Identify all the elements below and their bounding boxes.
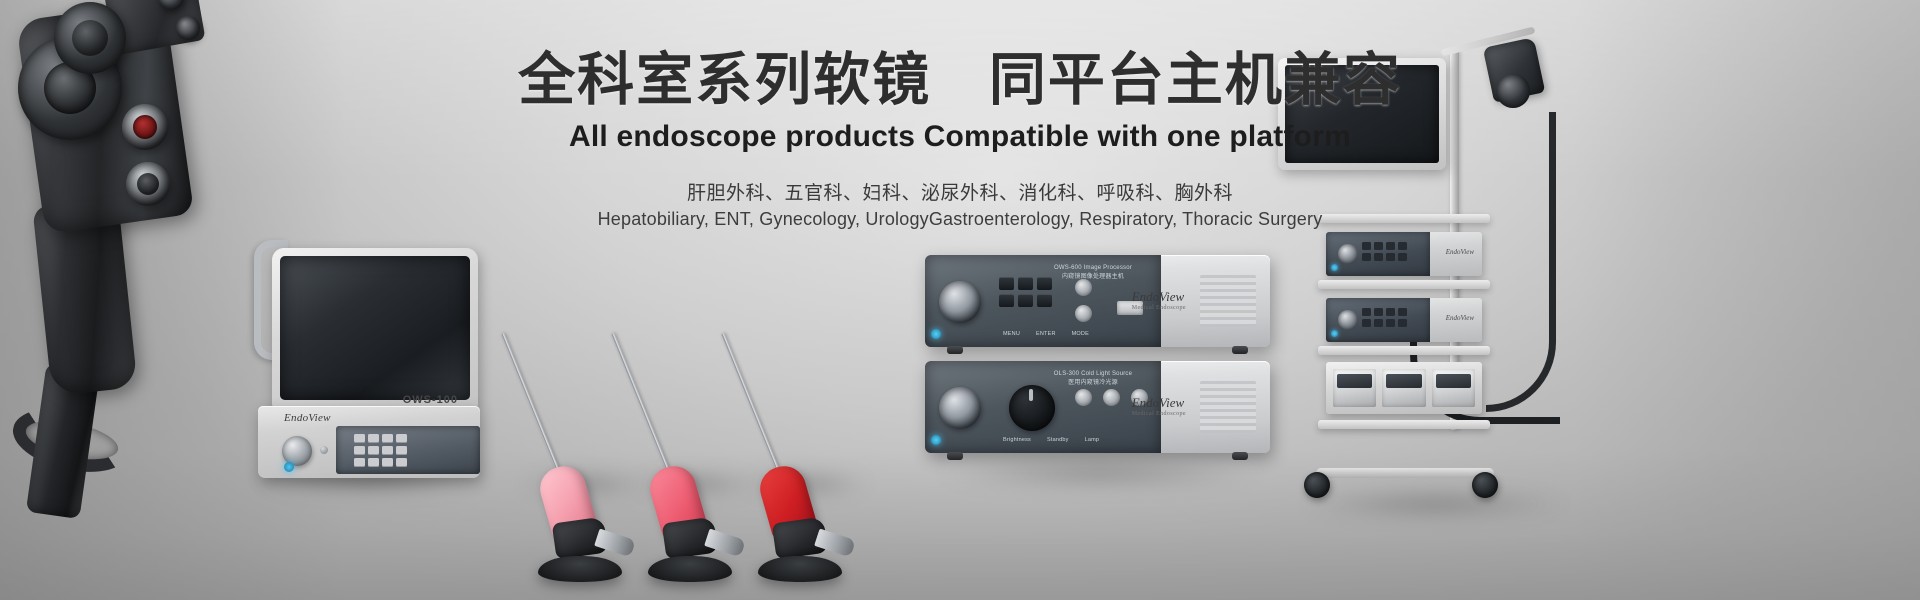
departments-chinese: 肝胆外科、五官科、妇科、泌尿外科、消化科、呼吸科、胸外科 [0,178,1920,205]
trolley-caster-right [1472,472,1498,498]
trolley-device-keypad [1362,242,1407,261]
unit-front-panel: OLS-300 Cold Light Source 医用内窥镜冷光源 Brigh… [925,361,1161,453]
trolley-device-keypad [1362,308,1407,327]
headline: 全科室系列软镜 同平台主机兼容 [0,48,1920,114]
workstation-screen-glass [280,256,470,400]
unit-brand-sub: Medical Endoscope [1132,305,1186,311]
unit-panel-title-en: OLS-300 Cold Light Source [1033,370,1153,379]
unit-brand-name: EndoView [1132,395,1184,410]
product-resectoscope-red [730,347,880,582]
unit-button-icon-2 [1103,389,1120,406]
unit-brand: EndoView Medical Endoscope [1132,289,1186,311]
unit-foot [1232,346,1248,354]
trolley-device-lower: EndoView [1326,298,1482,342]
unit-button-labels: MENU ENTER MODE [1003,331,1089,337]
headline-english: All endoscope products Compatible with o… [0,120,1920,154]
unit-brand-name: EndoView [1132,289,1184,304]
workstation-indicator-icon [320,446,328,454]
unit-button-pad [999,277,1052,307]
unit-power-led-icon [931,329,941,339]
unit-panel-title-en: OWS-600 Image Processor [1033,264,1153,273]
unit-label-lamp: Lamp [1085,437,1100,443]
unit-vent-grille [1200,381,1256,433]
workstation-display [272,248,478,408]
instrument-stand [758,556,842,582]
instrument-stand [648,556,732,582]
trolley-shelf [1318,420,1490,429]
trolley-accessory-2 [1382,369,1425,407]
trolley-device-led-icon [1331,264,1338,271]
control-unit-light-source: OLS-300 Cold Light Source 医用内窥镜冷光源 Brigh… [925,361,1270,453]
unit-foot [947,346,963,354]
unit-label-enter: ENTER [1036,331,1056,337]
trolley-device-upper: EndoView [1326,232,1482,276]
trolley-shelf [1318,280,1490,289]
trolley-shelf [1318,346,1490,355]
marketing-banner: OWS-100 EndoView [0,0,1920,600]
unit-foot [1232,452,1248,460]
unit-light-guide-connector [939,387,981,429]
unit-label-brightness: Brightness [1003,437,1031,443]
instrument-stand [538,556,622,582]
workstation-power-led-icon [284,462,294,472]
control-unit-image-processor: OWS-600 Image Processor 内窥镜图像处理器主机 MENU … [925,255,1270,347]
headline-part-1: 全科室系列软镜 [518,48,931,112]
unit-button-icon-1 [1075,389,1092,406]
unit-vent-grille [1200,275,1256,327]
unit-power-led-icon [931,435,941,445]
unit-button-icon-1 [1075,279,1092,296]
trolley-device-knob [1338,244,1358,264]
workstation-keypad [354,434,407,467]
unit-button-icon-2 [1075,305,1092,322]
unit-brightness-knob [1009,385,1055,431]
unit-label-mode: MODE [1072,331,1089,337]
product-control-units: OWS-600 Image Processor 内窥镜图像处理器主机 MENU … [925,255,1270,465]
unit-brand-sub: Medical Endoscope [1132,411,1186,417]
trolley-accessory-3 [1432,369,1475,407]
unit-label-menu: MENU [1003,331,1020,337]
unit-label-standby: Standby [1047,437,1069,443]
headline-part-2: 同平台主机兼容 [989,48,1402,112]
trolley-device-led-icon [1331,330,1338,337]
workstation-model-label: OWS-100 [403,394,458,406]
unit-brand: EndoView Medical Endoscope [1132,395,1186,417]
trolley-base [1316,468,1494,478]
endoscope-button-secondary-icon [176,16,200,40]
unit-panel-title-cn: 医用内窥镜冷光源 [1033,379,1153,388]
trolley-caster-left [1304,472,1330,498]
unit-front-panel: OWS-600 Image Processor 内窥镜图像处理器主机 MENU … [925,255,1161,347]
trolley-device-brand: EndoView [1446,248,1474,256]
trolley-device-brand: EndoView [1446,314,1474,322]
unit-scope-connector [939,281,981,323]
trolley-device-knob [1338,310,1358,330]
banner-text-block: 全科室系列软镜 同平台主机兼容 All endoscope products C… [0,48,1920,230]
unit-foot [947,452,963,460]
trolley-accessory-tray [1326,362,1482,414]
departments-english: Hepatobiliary, ENT, Gynecology, UrologyG… [0,209,1920,230]
trolley-accessory-1 [1333,369,1376,407]
workstation-brand-label: EndoView [284,412,331,424]
unit-button-labels: Brightness Standby Lamp [1003,437,1099,443]
product-workstation-ows100: OWS-100 EndoView [240,248,490,478]
